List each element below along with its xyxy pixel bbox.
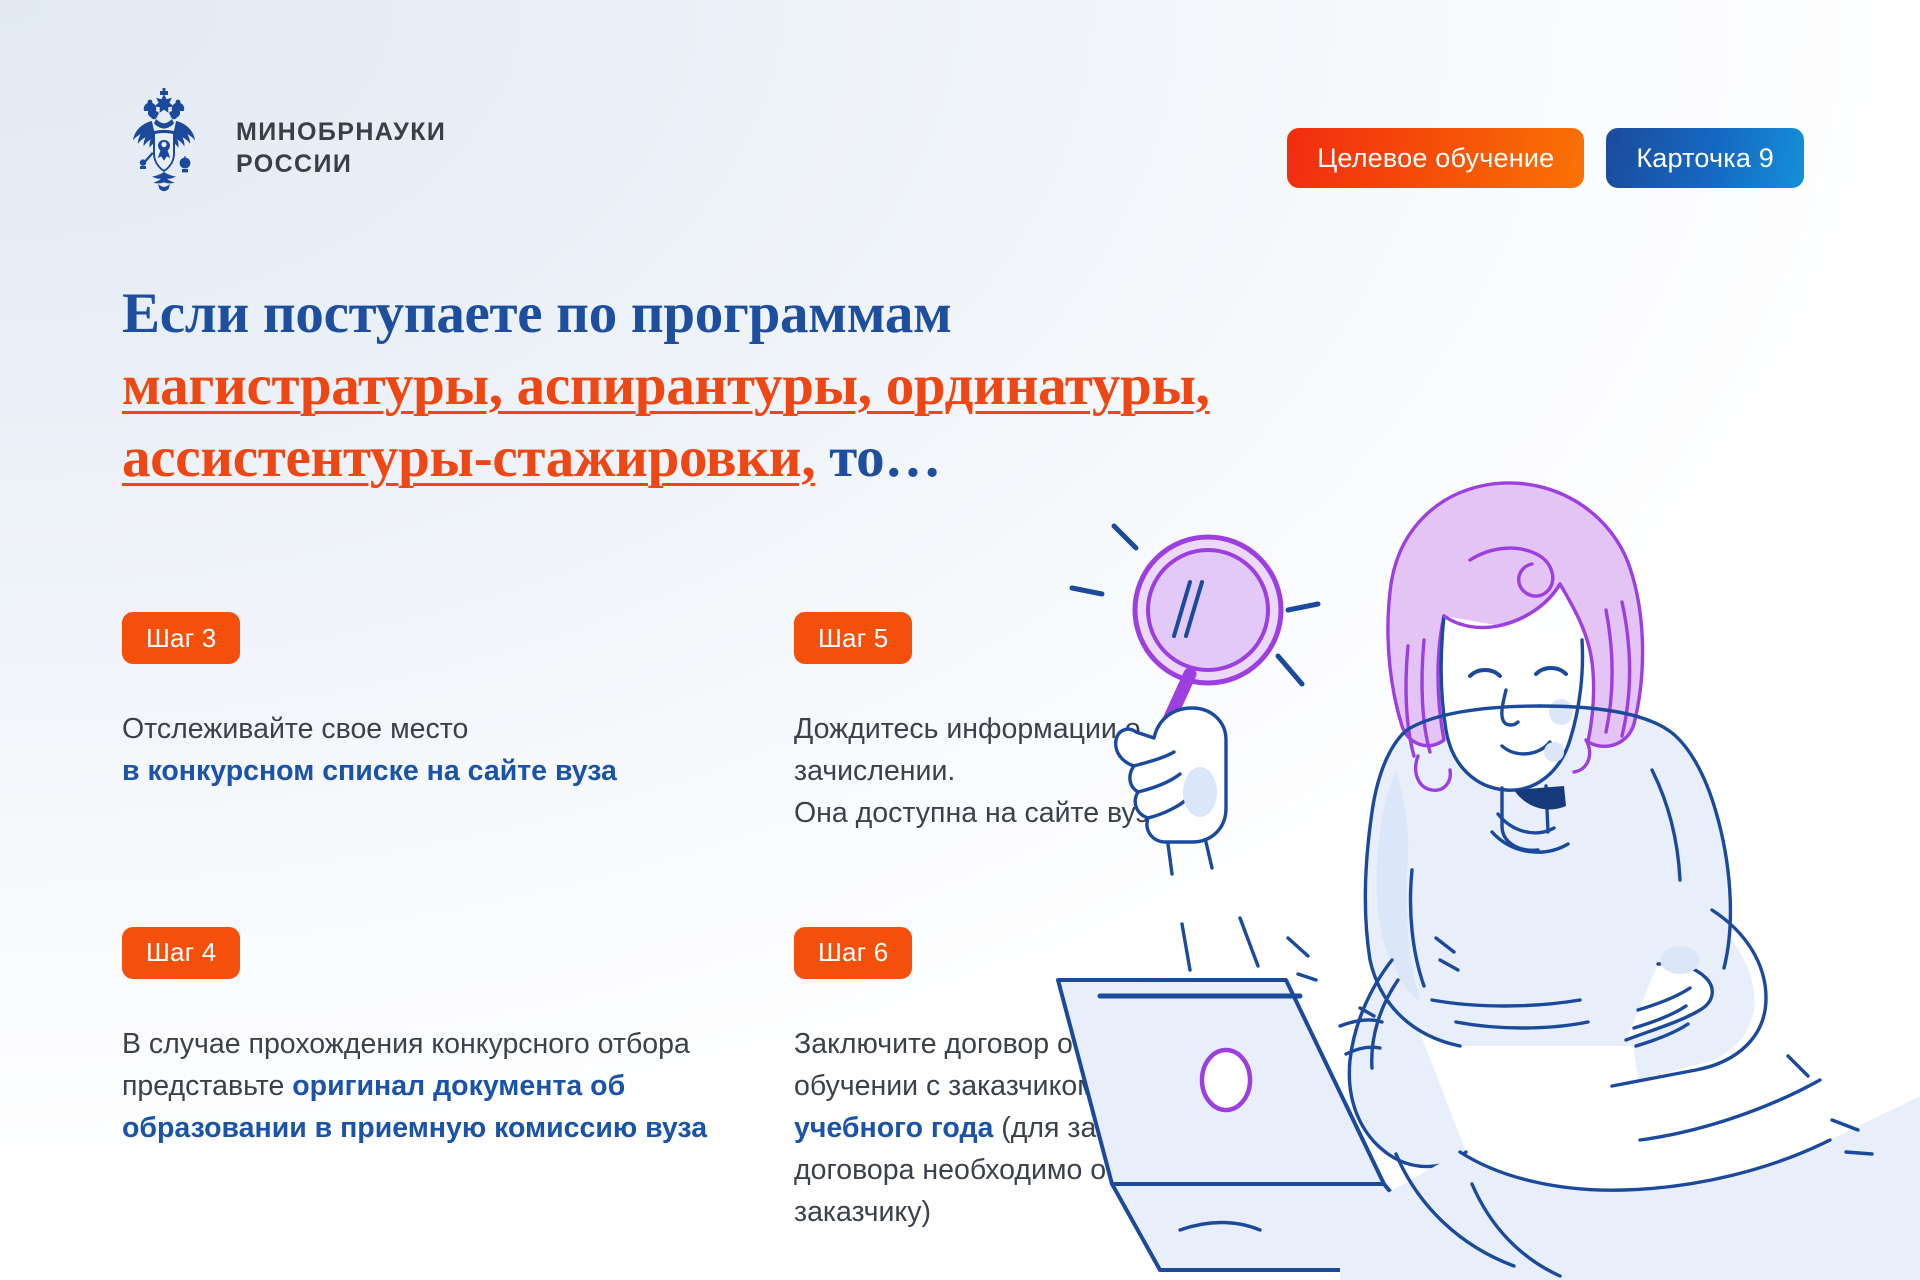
step-card-3: Шаг 3 Отслеживайте свое местов конкурсно… (122, 612, 794, 835)
step-badge-5: Шаг 5 (794, 612, 912, 664)
step-card-6: Шаг 6 Заключите договор о целевом обучен… (794, 927, 1302, 1234)
heading-line-3-highlight: ассистентуры-стажировки, (122, 426, 815, 489)
ministry-logo: МИНОБРНАУКИ РОССИИ (118, 88, 446, 208)
step-card-4: Шаг 4 В случае прохождения конкурсного о… (122, 927, 794, 1234)
step-badge-6: Шаг 6 (794, 927, 912, 979)
heading-line-3-tail: то… (815, 426, 941, 489)
header-badges: Целевое обучение Карточка 9 (1287, 128, 1804, 188)
heading-line-1: Если поступаете по программам (122, 282, 952, 345)
step-card-5: Шаг 5 Дождитесь информации о зачислении.… (794, 612, 1302, 835)
step-text-5: Дождитесь информации о зачислении.Она до… (794, 708, 1302, 835)
header: МИНОБРНАУКИ РОССИИ Целевое обучение Карт… (0, 0, 1920, 200)
step-text-3: Отслеживайте свое местов конкурсном спис… (122, 708, 762, 792)
ministry-logo-text: МИНОБРНАУКИ РОССИИ (236, 116, 446, 180)
badge-card-number[interactable]: Карточка 9 (1606, 128, 1804, 188)
heading-line-2-highlight: магистратуры, аспирантуры, ординатуры, (122, 354, 1210, 417)
russian-double-headed-eagle-emblem-icon (118, 88, 210, 208)
step-text-6: Заключите договор о целевом обучении с з… (794, 1023, 1302, 1234)
slide-root: МИНОБРНАУКИ РОССИИ Целевое обучение Карт… (0, 0, 1920, 1280)
step-text-4: В случае прохождения конкурсного отбора … (122, 1023, 762, 1150)
steps-grid: Шаг 3 Отслеживайте свое местов конкурсно… (122, 612, 1302, 1233)
step-badge-4: Шаг 4 (122, 927, 240, 979)
badge-celevoe-obuchenie[interactable]: Целевое обучение (1287, 128, 1584, 188)
page-title: Если поступаете по программам магистрату… (122, 278, 1422, 493)
step-badge-3: Шаг 3 (122, 612, 240, 664)
